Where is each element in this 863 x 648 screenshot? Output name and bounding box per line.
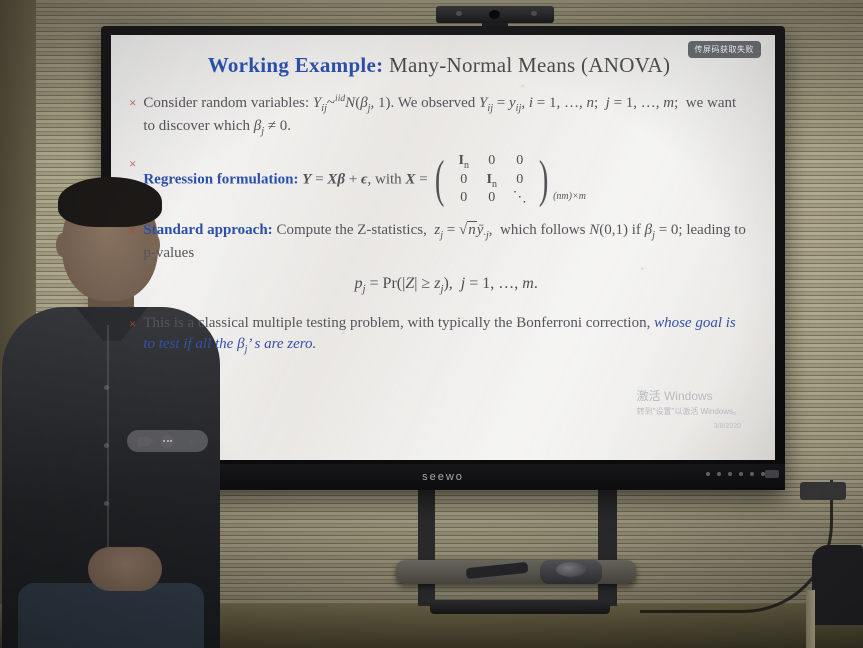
watermark-date: 3/8/2020 (637, 423, 741, 430)
slide-title-rest: Many-Normal Means (ANOVA) (389, 53, 670, 77)
presenter-shirt-button (104, 443, 109, 448)
matrix-paren-left: ( (435, 160, 445, 201)
camera-mic-right (531, 11, 537, 16)
presenter-trousers (18, 583, 204, 648)
lecture-room-photo: 传屏码获取失败 Working Example: Many-Normal Mea… (0, 0, 863, 648)
matrix-paren-right: ) (539, 160, 549, 201)
p-value-equation: pj = Pr(|Z| ≥ zj), j = 1, …, m. (143, 273, 749, 298)
presenter-shirt-placket (107, 325, 109, 575)
wall-outlet-plate (800, 482, 846, 500)
cast-status-badge: 传屏码获取失败 (688, 41, 762, 58)
bullet-marker-icon: × (129, 92, 136, 113)
bullet-marker-icon: × (129, 220, 136, 241)
bullet-consider-random-variables: × Consider random variables: Yij~iidN(βj… (129, 92, 749, 140)
matrix-cells: In00 0In0 00⋱ (450, 153, 534, 207)
windows-activation-watermark: 激活 Windows 转到"设置"以激活 Windows。 3/8/2020 (637, 387, 741, 430)
bullet-marker-icon: × (129, 153, 136, 174)
presenter-ear-left (56, 233, 69, 257)
bullet-standard-approach: × Standard approach: Compute the Z-stati… (129, 220, 749, 300)
presenter-shirt-button (104, 385, 109, 390)
bullet-3-text: Standard approach: Compute the Z-statist… (143, 220, 749, 300)
bullet-4-text: This is a classical multiple testing pro… (143, 313, 749, 358)
camera-lens-icon (489, 10, 500, 19)
watermark-line-2: 转到"设置"以激活 Windows。 (637, 406, 741, 417)
bullet-3-lead: Standard approach: (143, 222, 272, 238)
slide-title: Working Example: Many-Normal Means (ANOV… (129, 53, 749, 78)
bullet-4-line1: This is a classical multiple testing pro… (143, 315, 490, 331)
slide-content: Working Example: Many-Normal Means (ANOV… (129, 53, 749, 358)
stand-base (430, 600, 610, 614)
matrix-dimension: (nm)×m (553, 190, 586, 206)
more-options-icon[interactable] (160, 434, 175, 448)
ir-sensor (765, 470, 779, 478)
bullet-marker-icon: × (129, 313, 136, 334)
bullet-4-line3: βj’ s are zero. (237, 336, 316, 352)
display-brand-logo: seewo (422, 471, 464, 483)
design-matrix: ( In00 0In0 00⋱ ) (nm)×m (431, 153, 586, 207)
bullet-2-text: Regression formulation: Y = Xβ + ϵ, with… (143, 153, 749, 207)
bullet-2-lead: Regression formulation: (143, 171, 298, 187)
stand-column-right (598, 488, 617, 606)
stand-column-left (418, 488, 435, 606)
chair (812, 545, 863, 625)
slide-toolbar[interactable]: ‹ (127, 430, 208, 452)
chair-leg (806, 590, 815, 648)
back-icon[interactable]: ‹ (184, 434, 199, 448)
presenter-shirt-button (104, 501, 109, 506)
presenter-hands (88, 547, 162, 591)
camera-mic-left (456, 11, 462, 16)
bullet-4-line2-plain: the Bonferroni correction, (494, 315, 650, 331)
bullet-multiple-testing: × This is a classical multiple testing p… (129, 313, 749, 358)
shelf-device-dial (556, 562, 586, 577)
record-icon[interactable] (136, 434, 151, 448)
slide-title-highlight: Working Example: (208, 53, 384, 77)
watermark-line-1: 激活 Windows (637, 387, 741, 404)
bezel-buttons[interactable] (706, 472, 765, 476)
bullet-1-text: Consider random variables: Yij~iidN(βj, … (143, 92, 749, 140)
bullet-regression-formulation: × Regression formulation: Y = Xβ + ϵ, wi… (129, 153, 749, 207)
